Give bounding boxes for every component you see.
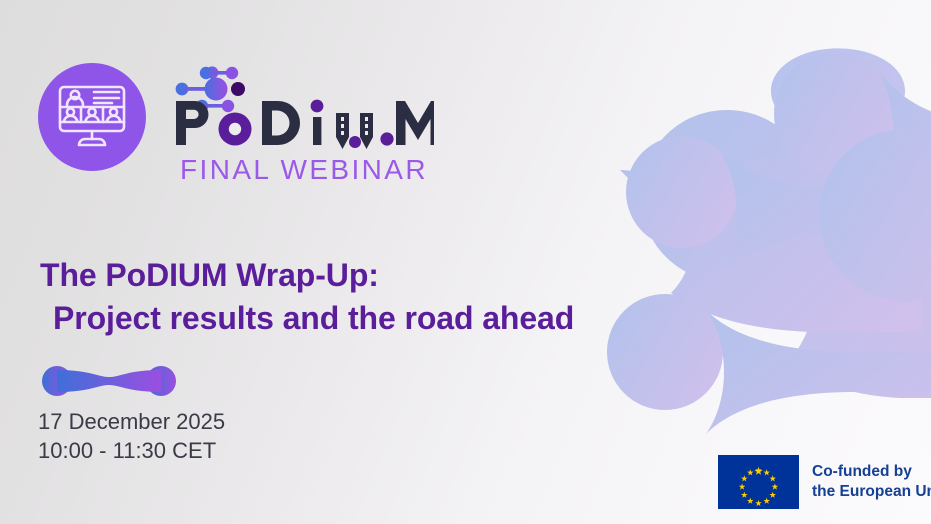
deco-node-lower — [620, 152, 922, 332]
eu-caption-line-1: Co-funded by — [812, 462, 931, 482]
wordmark-letter-d — [262, 101, 300, 145]
webinar-poster: FINAL WEBINAR The PoDIUM Wrap-Up: Projec… — [0, 0, 931, 524]
deco-node-top — [771, 48, 931, 258]
event-datetime: 17 December 2025 10:00 - 11:30 CET — [38, 407, 225, 465]
eu-funding-badge: Co-funded by the European Union — [718, 455, 931, 509]
podium-wordmark — [174, 65, 434, 150]
webinar-badge — [38, 63, 146, 171]
eu-flag-icon — [718, 455, 799, 509]
deco-blob-group — [607, 52, 931, 502]
wordmark-letter-u-road — [336, 113, 373, 149]
brand-subtitle: FINAL WEBINAR — [180, 156, 428, 184]
deco-node-right-mass — [640, 98, 931, 262]
headline-line-2: Project results and the road ahead — [40, 297, 574, 340]
deco-node-middle — [641, 110, 931, 398]
brand-row: FINAL WEBINAR — [38, 63, 434, 184]
headline-line-1: The PoDIUM Wrap-Up: — [40, 254, 574, 297]
dumbbell-divider-icon — [40, 366, 178, 396]
webinar-screen-icon — [57, 84, 127, 150]
event-time: 10:00 - 11:30 CET — [38, 436, 225, 465]
wordmark-letter-m — [380, 101, 434, 146]
wordmark-letter-i — [311, 100, 324, 145]
page-title: The PoDIUM Wrap-Up: Project results and … — [40, 254, 574, 340]
brand-text: FINAL WEBINAR — [174, 63, 434, 184]
event-date: 17 December 2025 — [38, 407, 225, 436]
wordmark-letter-o — [219, 113, 252, 146]
deco-node-bottom — [773, 318, 917, 462]
eu-caption-line-2: the European Union — [812, 482, 931, 502]
eu-funding-caption: Co-funded by the European Union — [812, 462, 931, 503]
wordmark-letter-p — [176, 101, 208, 145]
